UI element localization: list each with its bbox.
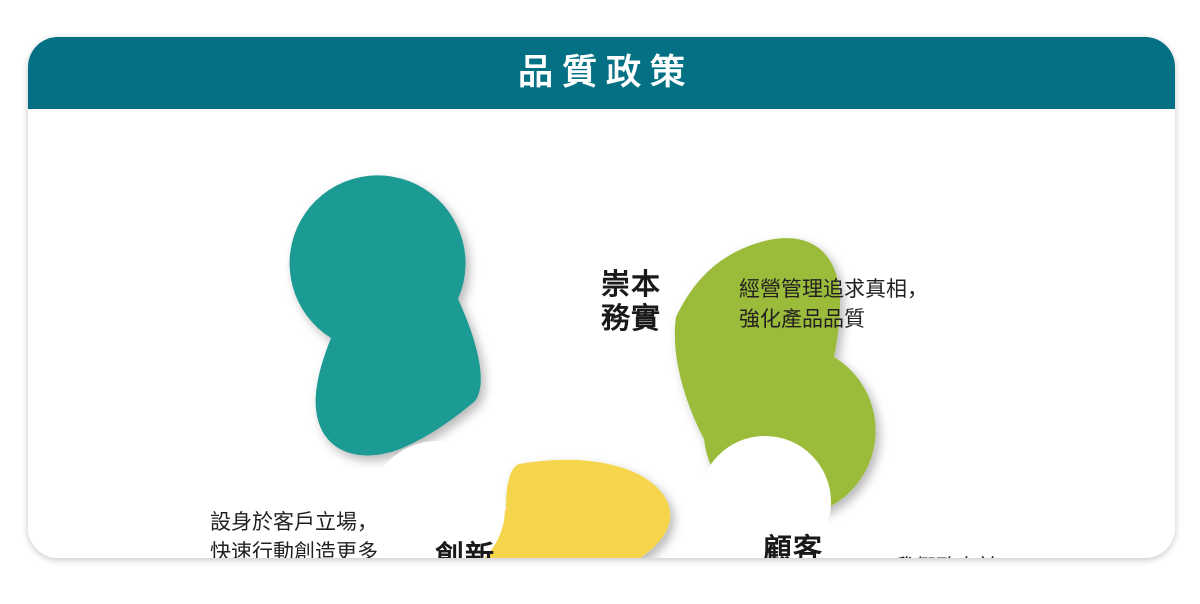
lobe-label-left: 創新 精神 <box>367 539 563 558</box>
lobe-label-top: 崇本 務實 <box>533 267 729 335</box>
lobe-description-right: 我們致力於 讓每位客戶滿意 <box>894 552 1175 558</box>
lobe-description-top: 經營管理追求真相， 強化產品品質 <box>739 274 1039 335</box>
lobe-label-right: 顧客 服務 <box>695 532 891 558</box>
screenshot-root: 品質政策 <box>0 0 1200 604</box>
card-header-bar: 品質政策 <box>28 37 1175 109</box>
lobe-shape-top-teal <box>290 175 481 455</box>
lobe-description-left: 設身於客戶立場， 快速行動創造更多 價值與體驗 <box>128 507 378 558</box>
triskelion-diagram: 崇本 務實 創新 精神 顧客 服務 經營管理追求真相， 強化產品品質 設身於客戶… <box>28 109 1175 558</box>
card-body: 崇本 務實 創新 精神 顧客 服務 經營管理追求真相， 強化產品品質 設身於客戶… <box>28 109 1175 558</box>
quality-policy-card: 品質政策 <box>28 37 1175 558</box>
page-title: 品質政策 <box>28 37 1175 109</box>
